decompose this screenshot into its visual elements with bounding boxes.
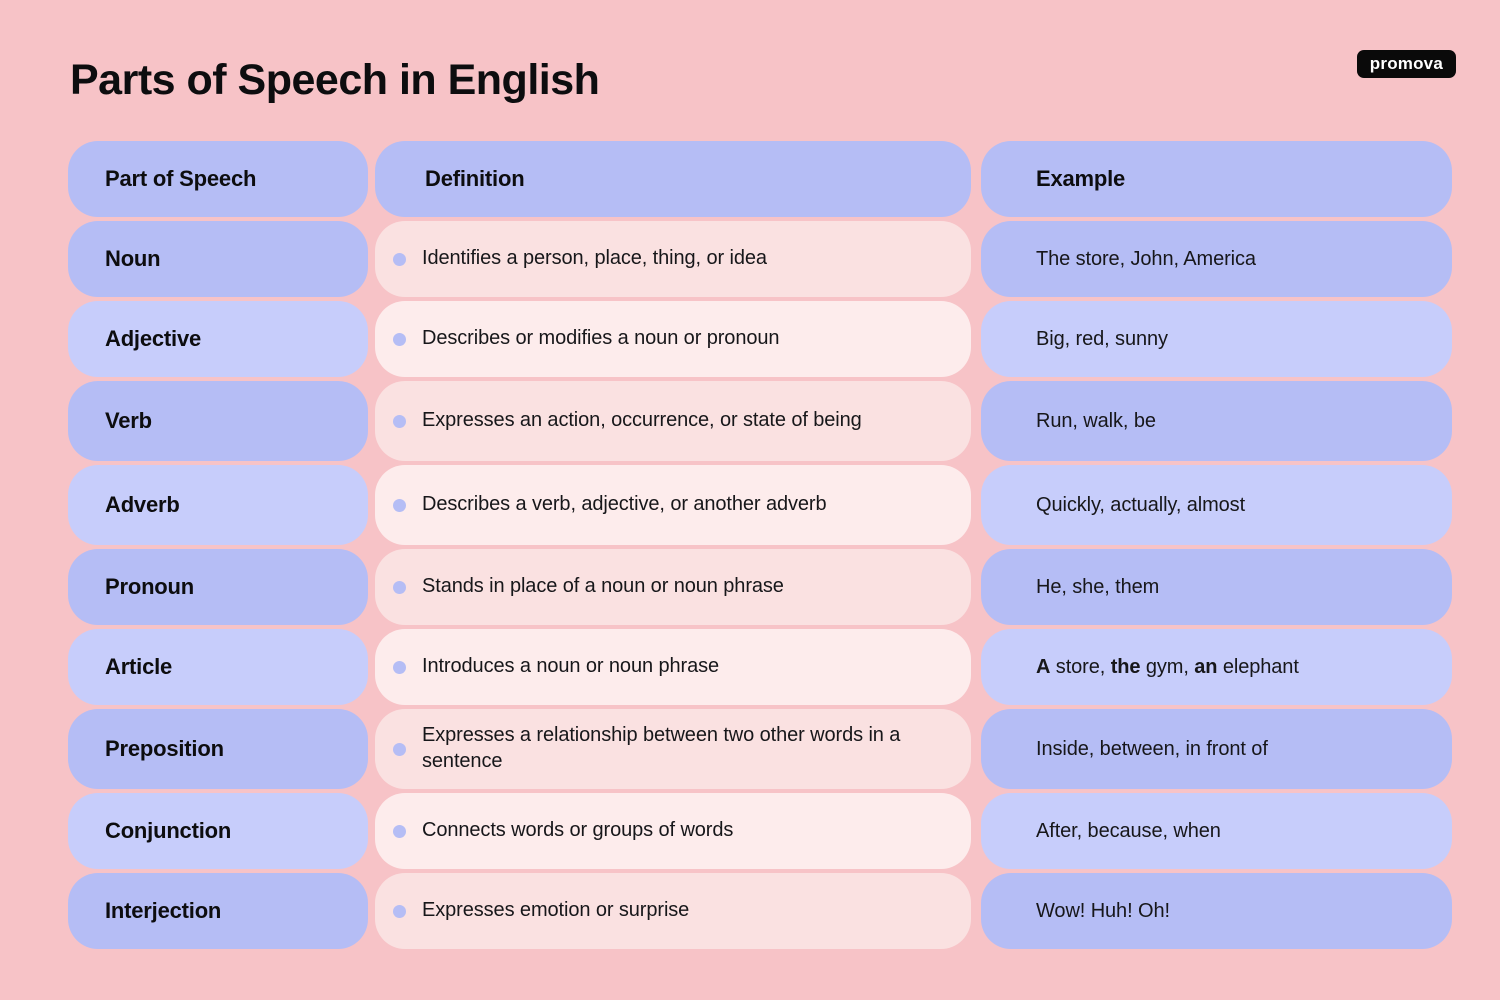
cell-example: Big, red, sunny <box>981 301 1452 377</box>
cell-example: A store, the gym, an elephant <box>981 629 1452 705</box>
table-row: PrepositionExpresses a relationship betw… <box>68 709 1450 789</box>
promova-logo: promova <box>1357 50 1456 78</box>
part-of-speech-label: Preposition <box>105 736 224 762</box>
example-text: The store, John, America <box>1036 248 1256 271</box>
cell-definition: Identifies a person, place, thing, or id… <box>375 221 971 297</box>
column-header-label: Definition <box>425 166 524 192</box>
page-title: Parts of Speech in English <box>70 56 599 105</box>
bullet-icon <box>393 825 406 838</box>
cell-definition: Expresses an action, occurrence, or stat… <box>375 381 971 461</box>
definition-text: Expresses emotion or surprise <box>422 898 689 924</box>
definition-text: Describes a verb, adjective, or another … <box>422 492 827 518</box>
example-text: Quickly, actually, almost <box>1036 494 1245 517</box>
table-row: NounIdentifies a person, place, thing, o… <box>68 221 1450 297</box>
cell-definition: Stands in place of a noun or noun phrase <box>375 549 971 625</box>
cell-definition: Expresses emotion or surprise <box>375 873 971 949</box>
example-text: Wow! Huh! Oh! <box>1036 900 1170 923</box>
table-body: NounIdentifies a person, place, thing, o… <box>68 221 1450 949</box>
table-header-row: Part of Speech Definition Example <box>68 141 1450 217</box>
cell-definition: Describes or modifies a noun or pronoun <box>375 301 971 377</box>
parts-of-speech-table: Part of Speech Definition Example NounId… <box>68 141 1450 953</box>
bullet-icon <box>393 415 406 428</box>
part-of-speech-label: Interjection <box>105 898 221 924</box>
cell-part-of-speech: Pronoun <box>68 549 368 625</box>
example-text: Inside, between, in front of <box>1036 738 1268 761</box>
part-of-speech-label: Verb <box>105 408 152 434</box>
table-row: PronounStands in place of a noun or noun… <box>68 549 1450 625</box>
example-text: After, because, when <box>1036 820 1221 843</box>
cell-part-of-speech: Adjective <box>68 301 368 377</box>
cell-example: The store, John, America <box>981 221 1452 297</box>
example-text: He, she, them <box>1036 576 1159 599</box>
cell-example: After, because, when <box>981 793 1452 869</box>
cell-part-of-speech: Adverb <box>68 465 368 545</box>
cell-part-of-speech: Preposition <box>68 709 368 789</box>
table-row: AdjectiveDescribes or modifies a noun or… <box>68 301 1450 377</box>
part-of-speech-label: Article <box>105 654 172 680</box>
bullet-icon <box>393 743 406 756</box>
table-row: AdverbDescribes a verb, adjective, or an… <box>68 465 1450 545</box>
cell-part-of-speech: Noun <box>68 221 368 297</box>
bullet-icon <box>393 253 406 266</box>
table-row: InterjectionExpresses emotion or surpris… <box>68 873 1450 949</box>
part-of-speech-label: Adverb <box>105 492 180 518</box>
cell-part-of-speech: Verb <box>68 381 368 461</box>
part-of-speech-label: Noun <box>105 246 160 272</box>
cell-definition: Connects words or groups of words <box>375 793 971 869</box>
bullet-icon <box>393 661 406 674</box>
cell-example: Run, walk, be <box>981 381 1452 461</box>
cell-definition: Describes a verb, adjective, or another … <box>375 465 971 545</box>
definition-text: Identifies a person, place, thing, or id… <box>422 246 767 272</box>
cell-definition: Introduces a noun or noun phrase <box>375 629 971 705</box>
part-of-speech-label: Pronoun <box>105 574 194 600</box>
column-header-part-of-speech: Part of Speech <box>68 141 368 217</box>
example-text: Run, walk, be <box>1036 410 1156 433</box>
page-header: Parts of Speech in English promova <box>0 0 1500 140</box>
cell-part-of-speech: Interjection <box>68 873 368 949</box>
definition-text: Expresses an action, occurrence, or stat… <box>422 408 862 434</box>
example-text: Big, red, sunny <box>1036 328 1168 351</box>
definition-text: Connects words or groups of words <box>422 818 733 844</box>
table-row: ArticleIntroduces a noun or noun phraseA… <box>68 629 1450 705</box>
cell-example: Quickly, actually, almost <box>981 465 1452 545</box>
definition-text: Expresses a relationship between two oth… <box>422 723 947 774</box>
bullet-icon <box>393 333 406 346</box>
bullet-icon <box>393 905 406 918</box>
table-row: ConjunctionConnects words or groups of w… <box>68 793 1450 869</box>
definition-text: Introduces a noun or noun phrase <box>422 654 719 680</box>
cell-part-of-speech: Conjunction <box>68 793 368 869</box>
column-header-example: Example <box>981 141 1452 217</box>
part-of-speech-label: Conjunction <box>105 818 231 844</box>
column-header-definition: Definition <box>375 141 971 217</box>
cell-definition: Expresses a relationship between two oth… <box>375 709 971 789</box>
cell-example: Inside, between, in front of <box>981 709 1452 789</box>
example-text: A store, the gym, an elephant <box>1036 656 1299 679</box>
cell-part-of-speech: Article <box>68 629 368 705</box>
definition-text: Stands in place of a noun or noun phrase <box>422 574 784 600</box>
part-of-speech-label: Adjective <box>105 326 201 352</box>
definition-text: Describes or modifies a noun or pronoun <box>422 326 779 352</box>
column-header-label: Example <box>1036 166 1125 192</box>
bullet-icon <box>393 499 406 512</box>
column-header-label: Part of Speech <box>105 166 256 192</box>
bullet-icon <box>393 581 406 594</box>
table-row: VerbExpresses an action, occurrence, or … <box>68 381 1450 461</box>
cell-example: Wow! Huh! Oh! <box>981 873 1452 949</box>
cell-example: He, she, them <box>981 549 1452 625</box>
